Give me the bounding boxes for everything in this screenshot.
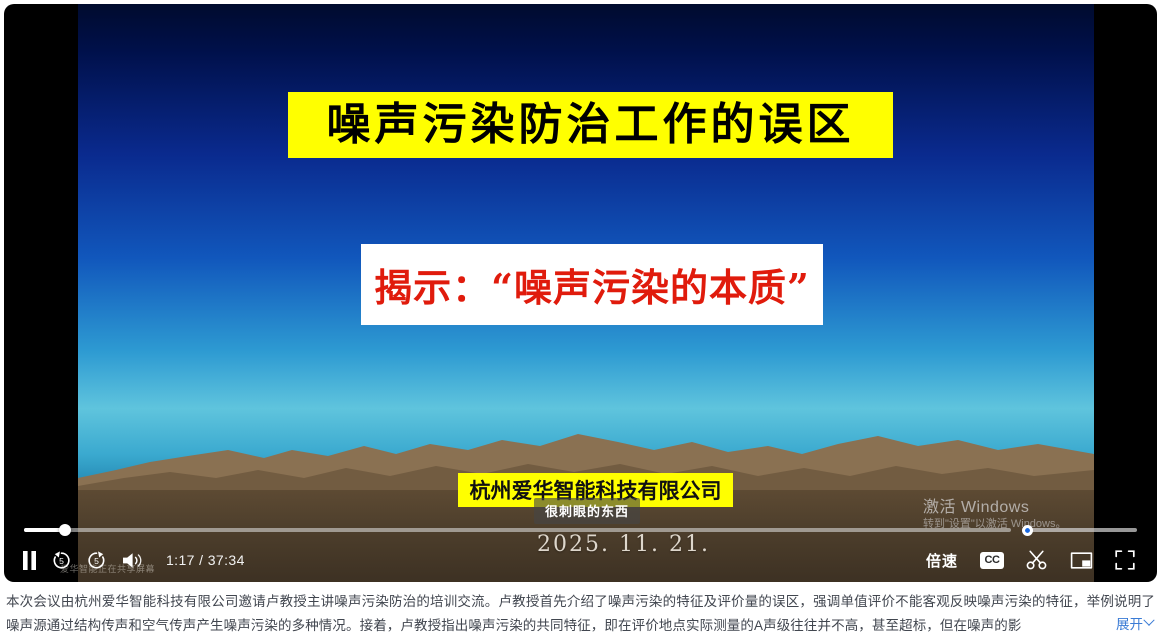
expand-description-button[interactable]: 展开 (1110, 613, 1153, 633)
picture-in-picture-icon[interactable] (1070, 551, 1093, 570)
slide-subtitle: 揭示：“噪声污染的本质” (374, 257, 810, 312)
progress-handle[interactable] (59, 524, 71, 536)
cc-subtitles-icon[interactable]: CC (980, 552, 1004, 569)
progress-bar[interactable] (24, 528, 1011, 532)
video-frame[interactable]: 噪声污染防治工作的误区 揭示：“噪声污染的本质” 杭州爱华智能科技有限公司 很刺… (78, 4, 1094, 582)
pause-button[interactable] (22, 551, 37, 570)
time-display: 1:17 / 37:34 (166, 552, 245, 568)
controls-left-group: 5 5 1:17 / 3 (4, 550, 245, 571)
slide-background: 噪声污染防治工作的误区 揭示：“噪声污染的本质” 杭州爱华智能科技有限公司 很刺… (78, 4, 1094, 582)
video-description: 本次会议由杭州爱华智能科技有限公司邀请卢教授主讲噪声污染防治的培训交流。卢教授首… (0, 586, 1161, 637)
chevron-down-icon (1143, 615, 1154, 626)
volume-icon[interactable] (121, 551, 144, 570)
fullscreen-icon[interactable] (1115, 550, 1135, 570)
progress-row (4, 522, 1157, 538)
player-controls: 5 5 1:17 / 3 (4, 538, 1157, 582)
slide-title: 噪声污染防治工作的误区 (327, 103, 855, 147)
volume-slider[interactable] (1027, 528, 1137, 532)
svg-text:5: 5 (94, 555, 99, 565)
playback-speed-button[interactable]: 倍速 (926, 550, 958, 571)
video-page: 噪声污染防治工作的误区 揭示：“噪声污染的本质” 杭州爱华智能科技有限公司 很刺… (0, 0, 1161, 637)
danmaku-comment: 很刺眼的东西 (534, 498, 640, 524)
forward-5-icon[interactable]: 5 (86, 550, 107, 571)
expand-label: 展开 (1116, 613, 1143, 633)
video-player[interactable]: 噪声污染防治工作的误区 揭示：“噪声污染的本质” 杭州爱华智能科技有限公司 很刺… (4, 4, 1157, 582)
description-text: 本次会议由杭州爱华智能科技有限公司邀请卢教授主讲噪声污染防治的培训交流。卢教授首… (0, 590, 1161, 637)
volume-handle[interactable] (1022, 525, 1033, 536)
slide-subtitle-box: 揭示：“噪声污染的本质” (361, 244, 823, 325)
svg-text:5: 5 (59, 555, 64, 565)
controls-right-group: 倍速 CC (926, 550, 1157, 571)
slide-title-box: 噪声污染防治工作的误区 (288, 92, 893, 158)
scissors-clip-icon[interactable] (1026, 550, 1048, 570)
rewind-5-icon[interactable]: 5 (51, 550, 72, 571)
